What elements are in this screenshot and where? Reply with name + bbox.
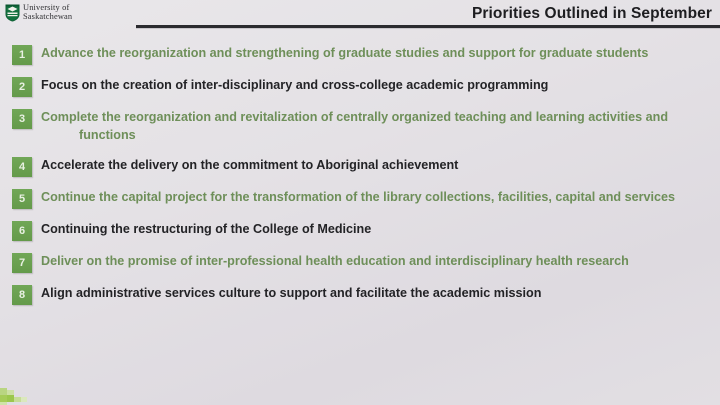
priority-item-text: Align administrative services culture to… xyxy=(41,284,541,303)
title-divider-rule xyxy=(136,25,720,28)
priority-number-badge: 1 xyxy=(12,45,32,65)
corner-pixel-decoration xyxy=(0,383,34,405)
priority-number-badge: 2 xyxy=(12,77,32,97)
priority-number-badge: 7 xyxy=(12,253,32,273)
page-title: Priorities Outlined in September xyxy=(472,5,712,23)
priority-item-text: Complete the reorganization and revitali… xyxy=(41,108,706,145)
priority-item-text: Focus on the creation of inter-disciplin… xyxy=(41,76,548,95)
priority-item-text: Continuing the restructuring of the Coll… xyxy=(41,220,371,239)
priority-item: 8Align administrative services culture t… xyxy=(0,284,720,305)
priority-item: 7Deliver on the promise of inter-profess… xyxy=(0,252,720,273)
deco-block xyxy=(0,388,7,395)
priority-item-text: Continue the capital project for the tra… xyxy=(41,188,675,207)
university-shield-icon xyxy=(5,4,20,22)
priority-item: 2Focus on the creation of inter-discipli… xyxy=(0,76,720,97)
priority-item: 6Continuing the restructuring of the Col… xyxy=(0,220,720,241)
priority-item: 1Advance the reorganization and strength… xyxy=(0,44,720,65)
priority-number-badge: 4 xyxy=(12,157,32,177)
deco-block xyxy=(21,397,27,402)
presentation-slide: University of Saskatchewan Priorities Ou… xyxy=(0,0,720,405)
priority-number-badge: 6 xyxy=(12,221,32,241)
deco-block xyxy=(14,397,21,402)
slide-header: University of Saskatchewan Priorities Ou… xyxy=(0,0,720,32)
logo-line-2: Saskatchewan xyxy=(23,13,72,22)
priority-number-badge: 5 xyxy=(12,189,32,209)
priority-item-text: Accelerate the delivery on the commitmen… xyxy=(41,156,458,175)
priority-item: 4Accelerate the delivery on the commitme… xyxy=(0,156,720,177)
deco-block xyxy=(0,395,7,402)
priority-item: 3Complete the reorganization and revital… xyxy=(0,108,720,145)
priority-number-badge: 3 xyxy=(12,109,32,129)
priority-list: 1Advance the reorganization and strength… xyxy=(0,44,720,316)
deco-block xyxy=(7,395,14,402)
deco-block xyxy=(7,390,14,395)
priority-item: 5Continue the capital project for the tr… xyxy=(0,188,720,209)
logo-wordmark: University of Saskatchewan xyxy=(23,4,72,21)
university-logo: University of Saskatchewan xyxy=(5,4,72,22)
priority-item-text: Deliver on the promise of inter-professi… xyxy=(41,252,629,271)
priority-item-text: Advance the reorganization and strengthe… xyxy=(41,44,648,63)
priority-number-badge: 8 xyxy=(12,285,32,305)
